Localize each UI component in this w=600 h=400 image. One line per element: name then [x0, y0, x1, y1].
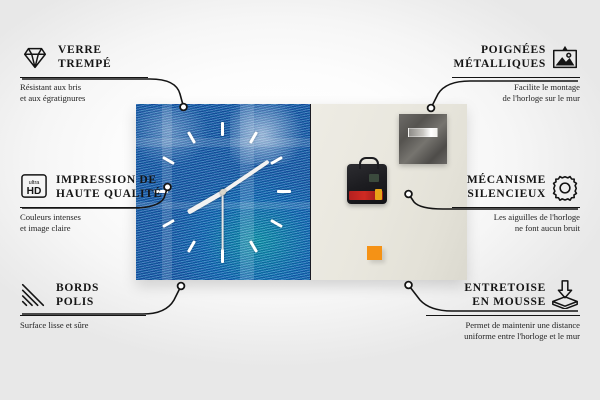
callout-verre-trempe: VERRE TREMPÉ Résistant aux bris et aux é…	[20, 40, 170, 104]
callout-mecanisme-silencieux: MÉCANISME SILENCIEUX Les aiguilles de l'…	[428, 172, 580, 234]
callout-poignees-metalliques: POIGNÉES MÉTALLIQUES Facilite le montage…	[428, 40, 580, 104]
callout-description: Couleurs intenses et image claire	[20, 212, 180, 234]
callout-rule	[20, 77, 148, 78]
callout-rule	[452, 207, 580, 208]
callout-title: IMPRESSION DE HAUTE QUALITÉ	[56, 172, 180, 201]
callout-impression-hd: ultra HD IMPRESSION DE HAUTE QUALITÉ Cou…	[20, 172, 180, 234]
metal-hanger	[399, 114, 447, 164]
foam-spacer-icon	[550, 279, 580, 309]
callout-rule	[426, 315, 580, 316]
svg-text:HD: HD	[27, 186, 42, 197]
clock-tick	[221, 249, 224, 263]
ultra-hd-icon: ultra HD	[20, 173, 48, 199]
callout-description: Facilite le montage de l'horloge sur le …	[428, 82, 580, 104]
callout-rule	[20, 207, 146, 208]
glass-glare	[136, 108, 209, 168]
callout-description: Les aiguilles de l'horloge ne font aucun…	[428, 212, 580, 234]
mechanism-hook	[359, 157, 379, 169]
callout-title: VERRE TREMPÉ	[58, 40, 170, 71]
clock-mechanism	[347, 164, 387, 204]
clock-tick	[221, 122, 224, 136]
polished-edges-icon	[18, 280, 48, 310]
clock-second-hand	[222, 192, 224, 250]
callout-entretoise-mousse: ENTRETOISE EN MOUSSE Permet de maintenir…	[418, 278, 580, 342]
callout-bords-polis: BORDS POLIS Surface lisse et sûre	[20, 280, 170, 331]
clock-tick	[277, 190, 291, 193]
picture-frame-icon	[550, 43, 580, 73]
callout-description: Résistant aux bris et aux égratignures	[20, 82, 170, 104]
mechanism-chip	[369, 174, 379, 182]
callout-description: Permet de maintenir une distance uniform…	[418, 320, 580, 342]
callout-title: BORDS POLIS	[56, 280, 170, 309]
gear-icon	[550, 173, 580, 203]
callout-rule	[452, 77, 580, 78]
clock-center-cap	[220, 189, 226, 195]
callout-description: Surface lisse et sûre	[20, 320, 170, 331]
diamond-icon	[20, 43, 50, 73]
mechanism-battery	[349, 191, 383, 200]
callout-rule	[20, 315, 146, 316]
callout-title: POIGNÉES MÉTALLIQUES	[428, 40, 546, 71]
infographic-stage: VERRE TREMPÉ Résistant aux bris et aux é…	[0, 0, 600, 400]
foam-spacer	[367, 246, 382, 260]
callout-title: ENTRETOISE EN MOUSSE	[418, 278, 546, 309]
glass-glare	[230, 104, 310, 164]
product-photo	[136, 104, 466, 280]
callout-title: MÉCANISME SILENCIEUX	[428, 172, 546, 201]
